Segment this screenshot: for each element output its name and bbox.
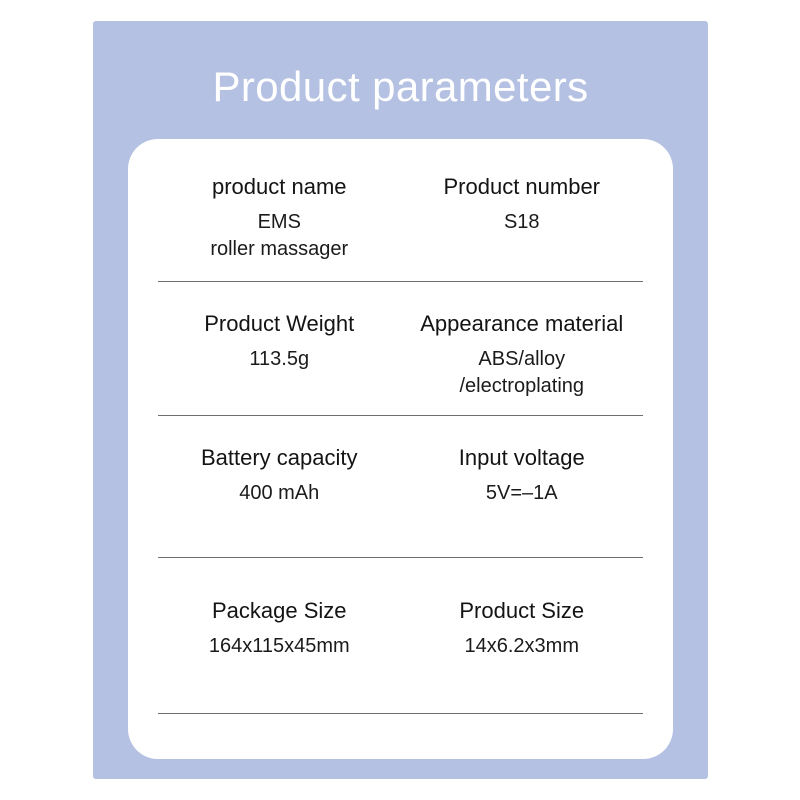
spec-row: Battery capacity 400 mAh Input voltage 5… xyxy=(158,416,643,558)
spec-value: ABS/alloy /electroplating xyxy=(403,346,642,400)
spec-value: 164x115x45mm xyxy=(160,633,399,660)
spec-cell: Input voltage 5V=–1A xyxy=(401,443,644,507)
spec-cell: product name EMS roller massager xyxy=(158,172,401,263)
product-parameters-panel: Product parameters product name EMS roll… xyxy=(93,21,708,779)
spec-value: 5V=–1A xyxy=(403,480,642,507)
spec-label: Appearance material xyxy=(403,309,642,339)
spec-cell: Product Weight 113.5g xyxy=(158,309,401,400)
spec-value: 113.5g xyxy=(160,346,399,373)
spec-label: product name xyxy=(160,172,399,202)
spec-label: Battery capacity xyxy=(160,443,399,473)
spec-card: product name EMS roller massager Product… xyxy=(128,139,673,759)
spec-cell: Appearance material ABS/alloy /electropl… xyxy=(401,309,644,400)
spec-row-cells: Battery capacity 400 mAh Input voltage 5… xyxy=(158,416,643,557)
spec-label: Input voltage xyxy=(403,443,642,473)
spec-label: Product Weight xyxy=(160,309,399,339)
spec-table: product name EMS roller massager Product… xyxy=(158,172,643,714)
spec-row: product name EMS roller massager Product… xyxy=(158,172,643,282)
spec-label: Product number xyxy=(403,172,642,202)
page-title: Product parameters xyxy=(93,61,708,113)
spec-value: 14x6.2x3mm xyxy=(403,633,642,660)
spec-label: Product Size xyxy=(403,596,642,626)
spec-cell: Package Size 164x115x45mm xyxy=(158,596,401,660)
spec-row-cells: Product Weight 113.5g Appearance materia… xyxy=(158,282,643,415)
spec-row: Package Size 164x115x45mm Product Size 1… xyxy=(158,558,643,714)
spec-cell: Product number S18 xyxy=(401,172,644,263)
spec-row-cells: product name EMS roller massager Product… xyxy=(158,172,643,281)
spec-value: EMS roller massager xyxy=(160,209,399,263)
spec-value: S18 xyxy=(403,209,642,236)
row-divider xyxy=(158,713,643,714)
spec-row: Product Weight 113.5g Appearance materia… xyxy=(158,282,643,416)
spec-row-cells: Package Size 164x115x45mm Product Size 1… xyxy=(158,558,643,713)
spec-cell: Product Size 14x6.2x3mm xyxy=(401,596,644,660)
spec-cell: Battery capacity 400 mAh xyxy=(158,443,401,507)
spec-value: 400 mAh xyxy=(160,480,399,507)
spec-label: Package Size xyxy=(160,596,399,626)
screenshot-root: Product parameters product name EMS roll… xyxy=(0,0,800,800)
